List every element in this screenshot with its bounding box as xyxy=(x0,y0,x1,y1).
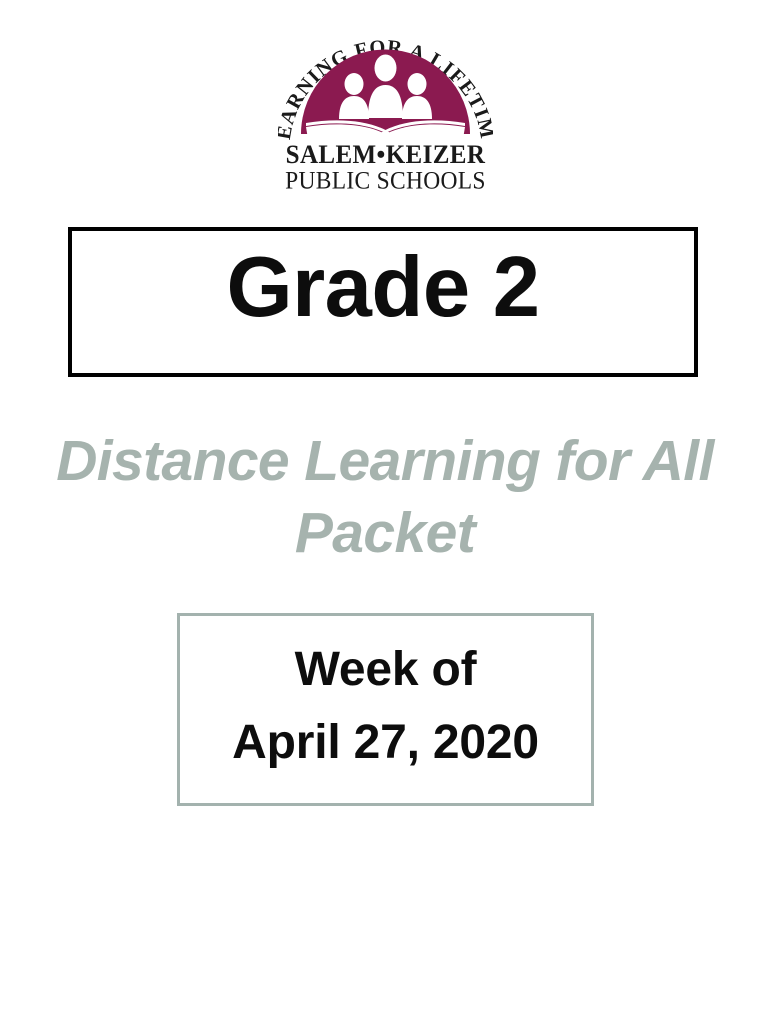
district-logo-block: LEARNING FOR A LIFETIME xyxy=(0,22,770,202)
logo-district-line2: PUBLIC SCHOOLS xyxy=(285,167,486,195)
salem-keizer-logo: LEARNING FOR A LIFETIME xyxy=(278,22,493,202)
packet-subtitle: Distance Learning for All Packet xyxy=(35,425,735,570)
packet-subtitle-line1: Distance Learning for All xyxy=(56,429,714,493)
week-of-label: Week of xyxy=(180,634,591,707)
week-of-date: April 27, 2020 xyxy=(180,707,591,780)
logo-district-line1: SALEM•KEIZER xyxy=(285,139,485,169)
page-title: Grade 2 xyxy=(72,245,694,330)
week-of-box: Week of April 27, 2020 xyxy=(177,613,594,806)
logo-graphic-icon: LEARNING FOR A LIFETIME xyxy=(278,22,493,202)
packet-subtitle-line2: Packet xyxy=(295,501,475,565)
grade-title-box: Grade 2 xyxy=(68,227,698,377)
week-of-content: Week of April 27, 2020 xyxy=(180,634,591,780)
